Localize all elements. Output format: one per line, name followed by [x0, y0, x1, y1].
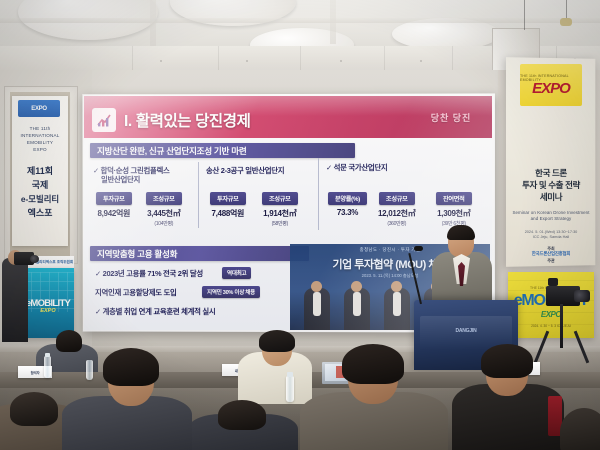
speaker-hair — [447, 225, 475, 240]
yellow-board-footer: 2024. 4. 30 ~ 5. 3 ICC JEJU — [508, 324, 594, 328]
metric-label: 잔여면적 — [436, 192, 472, 205]
metric-rate-2: 분양률(%) 73.3% — [328, 192, 367, 217]
water-bottle — [286, 376, 294, 402]
metric-value: 1,914천㎡ — [263, 208, 296, 219]
metric-sub: (360만평) — [387, 220, 406, 227]
ceiling-beam — [0, 18, 600, 23]
drone-banner-ko-3: 세미나 — [506, 192, 596, 203]
drone-banner-en-2: and Export Strategy — [506, 216, 596, 222]
left-banner-en-3: EMOBILITY — [12, 140, 68, 146]
drone-banner-ko-1: 한국 드론 — [506, 168, 596, 179]
left-banner-ko-2: 국제 — [12, 180, 68, 190]
slide-divider — [318, 158, 319, 230]
metric-value: 8,942억원 — [97, 208, 130, 219]
mou-person-head — [311, 281, 322, 292]
audience-person-hair — [342, 344, 404, 384]
bottle-cap — [287, 372, 293, 377]
podium-emblem: DANGJIN — [444, 322, 488, 340]
section-bar-employment: 지역맞춤형 고용 활성화 — [90, 246, 309, 261]
metric-label: 투자규모 — [96, 192, 132, 205]
left-banner-ko-3: e-모빌리티 — [12, 194, 68, 204]
audience-person-hair — [259, 330, 295, 352]
mou-person-shirt — [353, 292, 361, 316]
ceiling-beam — [330, 0, 336, 44]
mou-person-shirt — [313, 292, 321, 316]
expo-yellow-logo-icon: THE 11th INTERNATIONAL EMOBILITY EXPO — [520, 64, 582, 106]
audience-person-hair — [481, 344, 533, 378]
expo-logo-big-text: EXPO — [532, 82, 570, 96]
audience-person-head — [560, 408, 600, 450]
metric-label: 분양률(%) — [328, 192, 367, 205]
expo-logo-text: EXPO — [31, 106, 46, 112]
tripod-column — [560, 304, 563, 348]
drone-banner-host-value: 한국드론산업진흥협회 — [506, 251, 596, 257]
metric-area-1: 조성규모 1,914천㎡ (58만평) — [262, 192, 298, 227]
video-camera-viewfinder — [548, 278, 558, 286]
metric-label: 조성규모 — [379, 192, 415, 205]
metric-label: 조성규모 — [262, 192, 298, 205]
left-banner-ko-4: 엑스포 — [12, 208, 68, 218]
complex-2-name: ✓ 석문 국가산업단지 — [326, 163, 387, 172]
complex-0-name: ✓ 합덕·순성 그린컴플렉스 — [93, 166, 170, 175]
metric-value: 12,012천㎡ — [378, 208, 415, 219]
microphone-head — [414, 246, 423, 251]
video-camera-lens — [574, 290, 590, 302]
badge-record-high: 역대최고 — [222, 267, 251, 279]
metric-investment-1: 투자규모 7,488억원 — [210, 192, 246, 219]
expo-logo-icon: EXPO — [18, 100, 60, 117]
section-bar-industrial: 지방산단 완판, 신규 산업단지조성 기반 마련 — [90, 143, 355, 158]
badge-local-quota: 지역민 30% 이상 채용 — [202, 286, 260, 298]
drone-banner-location: ICC Jeju, Samda Hall — [506, 235, 596, 240]
metric-value: 1,309천㎡ — [437, 208, 470, 219]
complex-1-name: 송산 2-3공구 일반산업단지 — [206, 166, 284, 175]
complex-0-name-2: 일반산업단지 — [101, 175, 140, 184]
metric-area-0: 조성규모 3,445천㎡ (104만평) — [146, 192, 182, 227]
metric-sub: (104만평) — [154, 220, 173, 227]
drone-banner-org-label: 주관 — [506, 258, 596, 264]
metric-sub: (58만평) — [272, 220, 288, 227]
water-bottle — [86, 360, 93, 380]
blue-banner-sub-text: EXPO — [22, 308, 74, 314]
photographer-body — [2, 258, 28, 342]
metric-investment-0: 투자규모 8,942억원 — [96, 192, 132, 219]
slide-divider — [198, 162, 199, 228]
dangjin-calligraphy-logo: 당찬 당진 — [418, 104, 484, 130]
yellow-board-sub-text: EXPO — [508, 310, 594, 319]
metric-value: 7,488억원 — [211, 208, 244, 219]
audience-person-hair — [218, 400, 266, 430]
left-banner-en-4: EXPO — [12, 147, 68, 153]
name-placard-text: 참석자 — [18, 370, 52, 375]
metric-label: 조성규모 — [146, 192, 182, 205]
slide-title: I. 활력있는 당진경제 — [124, 106, 384, 134]
bottle-cap — [45, 353, 50, 357]
ceiling-fixture — [560, 18, 572, 26]
growth-chart-icon — [92, 108, 116, 132]
left-banner-en-2: INTERNATIONAL — [12, 133, 68, 139]
mou-person-head — [391, 281, 402, 292]
metric-value: 73.3% — [337, 208, 358, 217]
audience-person-hair — [103, 348, 159, 386]
metric-remaining-2: 잔여면적 1,309천㎡ (39만 6천평) — [436, 192, 472, 227]
mou-person-shirt — [393, 292, 401, 316]
metric-area-2: 조성규모 12,012천㎡ (360만평) — [378, 192, 415, 227]
employment-bullet-1: 지역인재 고용할당제도 도입 — [95, 288, 177, 297]
audience-person-hair — [56, 330, 82, 352]
drone-banner-ko-2: 투자 및 수출 전략 — [506, 180, 596, 191]
conference-photo: EXPO THE 11th INTERNATIONAL EMOBILITY EX… — [0, 0, 600, 450]
ceiling-beam — [150, 0, 156, 50]
mou-person-head — [351, 281, 362, 292]
ceiling-wire — [524, 0, 525, 30]
photographer-camera-lens — [30, 255, 39, 263]
left-banner-ko-1: 제11회 — [12, 166, 68, 176]
employment-bullet-2: ✓ 계층별 취업 연계 교육훈련 체계적 실시 — [95, 307, 215, 316]
left-banner-en-1: THE 11th — [12, 126, 68, 132]
metric-label: 투자규모 — [210, 192, 246, 205]
audience-person-hair — [10, 392, 58, 426]
metric-value: 3,445천㎡ — [147, 208, 180, 219]
employment-bullet-0: ✓ 2023년 고용률 71% 전국 2위 달성 — [95, 269, 203, 278]
